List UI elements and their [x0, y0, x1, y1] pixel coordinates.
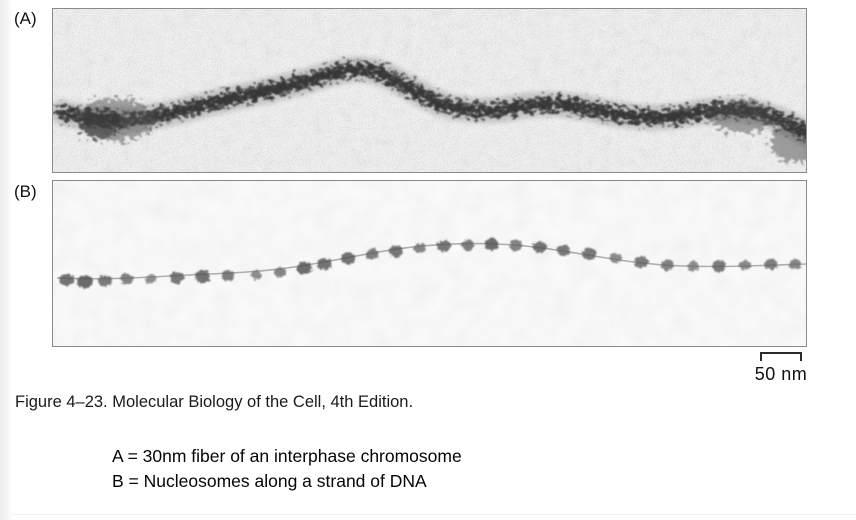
bottom-divider: [13, 514, 856, 515]
left-gutter-strip: [0, 0, 13, 520]
legend-line-a: A = 30nm fiber of an interphase chromoso…: [112, 444, 462, 469]
panel-label-b: (B): [14, 182, 37, 202]
scale-bar-line: [760, 352, 802, 354]
scale-bar-bracket-icon: [760, 352, 802, 361]
figure-caption: Figure 4–23. Molecular Biology of the Ce…: [15, 392, 413, 412]
micrograph-panel-b: [52, 180, 807, 347]
scale-bar-label: 50 nm: [733, 364, 829, 384]
panel-label-a: (A): [14, 9, 37, 29]
scale-bar-tick-right: [800, 352, 802, 361]
micrograph-panel-a: [52, 8, 807, 173]
legend-line-b: B = Nucleosomes along a strand of DNA: [112, 469, 462, 494]
panel-legend: A = 30nm fiber of an interphase chromoso…: [112, 444, 462, 494]
scale-bar: 50 nm: [733, 352, 829, 384]
